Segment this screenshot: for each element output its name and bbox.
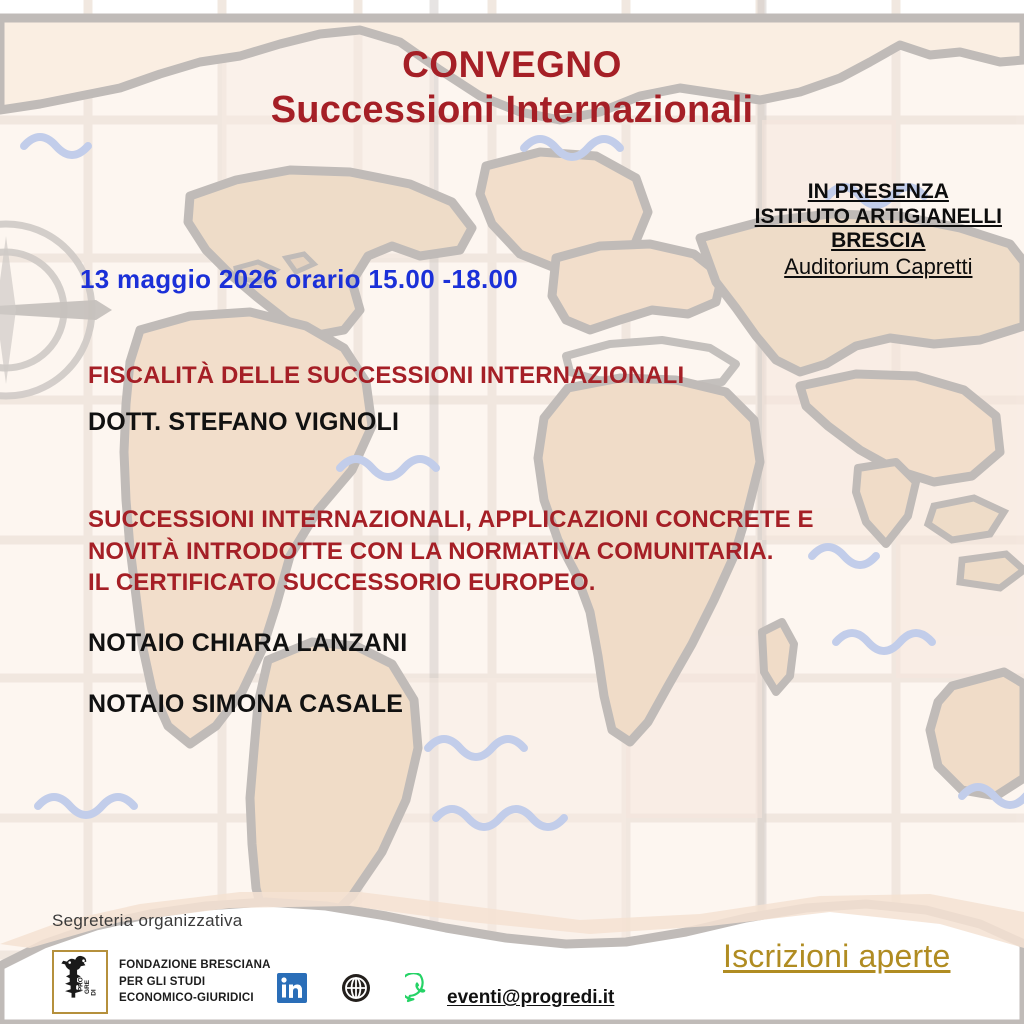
- venue-block: IN PRESENZA ISTITUTO ARTIGIANELLI BRESCI…: [755, 180, 1002, 279]
- talk-speaker-1: DOTT. STEFANO VIGNOLI: [88, 408, 399, 437]
- event-datetime: 13 maggio 2026 orario 15.00 -18.00: [80, 264, 518, 295]
- venue-mode: IN PRESENZA: [755, 180, 1002, 205]
- globe-icon[interactable]: [341, 973, 371, 1003]
- talk-title-2: SUCCESSIONI INTERNAZIONALI, APPLICAZIONI…: [88, 504, 814, 599]
- event-type-heading: CONVEGNO: [0, 44, 1024, 85]
- poster-title-block: CONVEGNO Successioni Internazionali: [0, 44, 1024, 132]
- talk-speaker-2b: NOTAIO SIMONA CASALE: [88, 690, 403, 719]
- talk-speaker-2a: NOTAIO CHIARA LANZANI: [88, 629, 407, 658]
- progredi-logo-icon: PRO GRE DI: [52, 950, 108, 1014]
- contact-email-link[interactable]: eventi@progredi.it: [447, 987, 614, 1009]
- secretariat-label: Segreteria organizzativa: [52, 911, 243, 931]
- talk-title-1: FISCALITÀ DELLE SUCCESSIONI INTERNAZIONA…: [88, 360, 684, 392]
- venue-city: BRESCIA: [755, 229, 1002, 254]
- organizer-row: PRO GRE DI FONDAZIONE BRESCIANA PER GLI …: [52, 950, 271, 1014]
- linkedin-icon[interactable]: [277, 973, 307, 1003]
- registration-status-link[interactable]: Iscrizioni aperte: [723, 938, 951, 975]
- venue-institute: ISTITUTO ARTIGIANELLI: [755, 205, 1002, 230]
- svg-text:DI: DI: [91, 989, 98, 996]
- event-poster: CONVEGNO Successioni Internazionali IN P…: [0, 0, 1024, 1024]
- whatsapp-icon[interactable]: [405, 973, 435, 1003]
- organizer-name: FONDAZIONE BRESCIANA PER GLI STUDI ECONO…: [119, 957, 271, 1007]
- social-links-row: [277, 973, 435, 1003]
- event-name-heading: Successioni Internazionali: [0, 89, 1024, 132]
- poster-content: CONVEGNO Successioni Internazionali IN P…: [0, 0, 1024, 1024]
- venue-hall: Auditorium Capretti: [755, 254, 1002, 280]
